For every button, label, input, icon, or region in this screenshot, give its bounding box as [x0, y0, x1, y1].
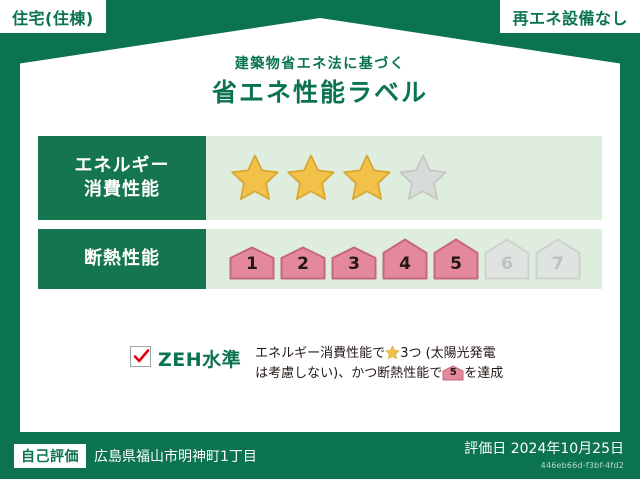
zeh-desc-stars: 3つ (太陽光発電	[400, 346, 495, 361]
star-icon-filled	[340, 152, 394, 204]
insulation-performance-value: 1234567	[206, 229, 602, 289]
energy-key-line2: 消費性能	[84, 178, 160, 202]
property-address: 広島県福山市明神町1丁目	[94, 446, 257, 466]
label-footer: 自己評価 広島県福山市明神町1丁目 評価日 2024年10月25日 446eb6…	[0, 432, 640, 479]
evaluation-id: 446eb66d-f3bf-4fd2	[464, 461, 624, 470]
grade-number: 2	[279, 254, 327, 274]
inline-star-icon	[385, 345, 400, 360]
building-type-tab: 住宅(住棟)	[0, 0, 106, 33]
zeh-label: ZEH水準	[158, 345, 241, 372]
zeh-desc-part2: は考慮しない)、かつ断熱性能で	[255, 366, 442, 381]
insulation-performance-row: 断熱性能 1234567	[38, 229, 602, 289]
zeh-checkbox[interactable]	[130, 346, 151, 367]
energy-performance-label: 住宅(住棟) 再エネ設備なし 建築物省エネ法に基づく 省エネ性能ラベル エネルギ…	[0, 0, 640, 479]
energy-performance-value	[206, 136, 602, 220]
inline-grade-badge: 5	[442, 365, 464, 381]
inline-grade-number: 5	[442, 365, 464, 381]
energy-performance-key: エネルギー 消費性能	[38, 136, 206, 220]
zeh-standard-block: ZEH水準 エネルギー消費性能で3つ (太陽光発電 は考慮しない)、かつ断熱性能…	[130, 344, 503, 384]
insulation-grade-badge: 1	[228, 246, 276, 280]
evaluation-date: 評価日 2024年10月25日	[464, 438, 624, 458]
insulation-key-line1: 断熱性能	[84, 247, 160, 271]
zeh-desc-part3: を達成	[464, 366, 503, 381]
insulation-performance-key: 断熱性能	[38, 229, 206, 289]
label-title: 省エネ性能ラベル	[0, 76, 640, 110]
renewable-energy-tab: 再エネ設備なし	[500, 0, 640, 33]
grade-number: 5	[432, 254, 480, 274]
check-icon	[133, 348, 150, 365]
insulation-grade-badge: 4	[381, 238, 429, 280]
star-icon-filled	[228, 152, 282, 204]
grade-number: 1	[228, 254, 276, 274]
star-rating	[228, 152, 450, 204]
star-icon-filled	[284, 152, 338, 204]
building-type-tab-label: 住宅(住棟)	[12, 5, 94, 29]
zeh-description: エネルギー消費性能で3つ (太陽光発電 は考慮しない)、かつ断熱性能で5を達成	[255, 344, 503, 384]
insulation-grade-scale: 1234567	[228, 238, 582, 280]
footer-right-group: 評価日 2024年10月25日 446eb66d-f3bf-4fd2	[464, 438, 624, 470]
insulation-grade-badge: 3	[330, 246, 378, 280]
energy-performance-row: エネルギー 消費性能	[38, 136, 602, 220]
grade-number: 4	[381, 254, 429, 274]
renewable-energy-tab-label: 再エネ設備なし	[512, 5, 628, 29]
insulation-grade-badge: 7	[534, 238, 582, 280]
performance-rows: エネルギー 消費性能 断熱性能 1234567	[38, 136, 602, 289]
label-subtitle: 建築物省エネ法に基づく	[0, 56, 640, 73]
star-icon-empty	[396, 152, 450, 204]
evaluation-type-badge: 自己評価	[14, 444, 86, 468]
energy-key-line1: エネルギー	[75, 154, 170, 178]
grade-number: 3	[330, 254, 378, 274]
label-title-block: 建築物省エネ法に基づく 省エネ性能ラベル	[0, 56, 640, 110]
insulation-grade-badge: 2	[279, 246, 327, 280]
zeh-desc-part1: エネルギー消費性能で	[255, 346, 385, 361]
grade-number: 6	[483, 254, 531, 274]
footer-left-group: 自己評価 広島県福山市明神町1丁目	[14, 444, 257, 468]
insulation-grade-badge: 6	[483, 238, 531, 280]
grade-number: 7	[534, 254, 582, 274]
insulation-grade-badge: 5	[432, 238, 480, 280]
